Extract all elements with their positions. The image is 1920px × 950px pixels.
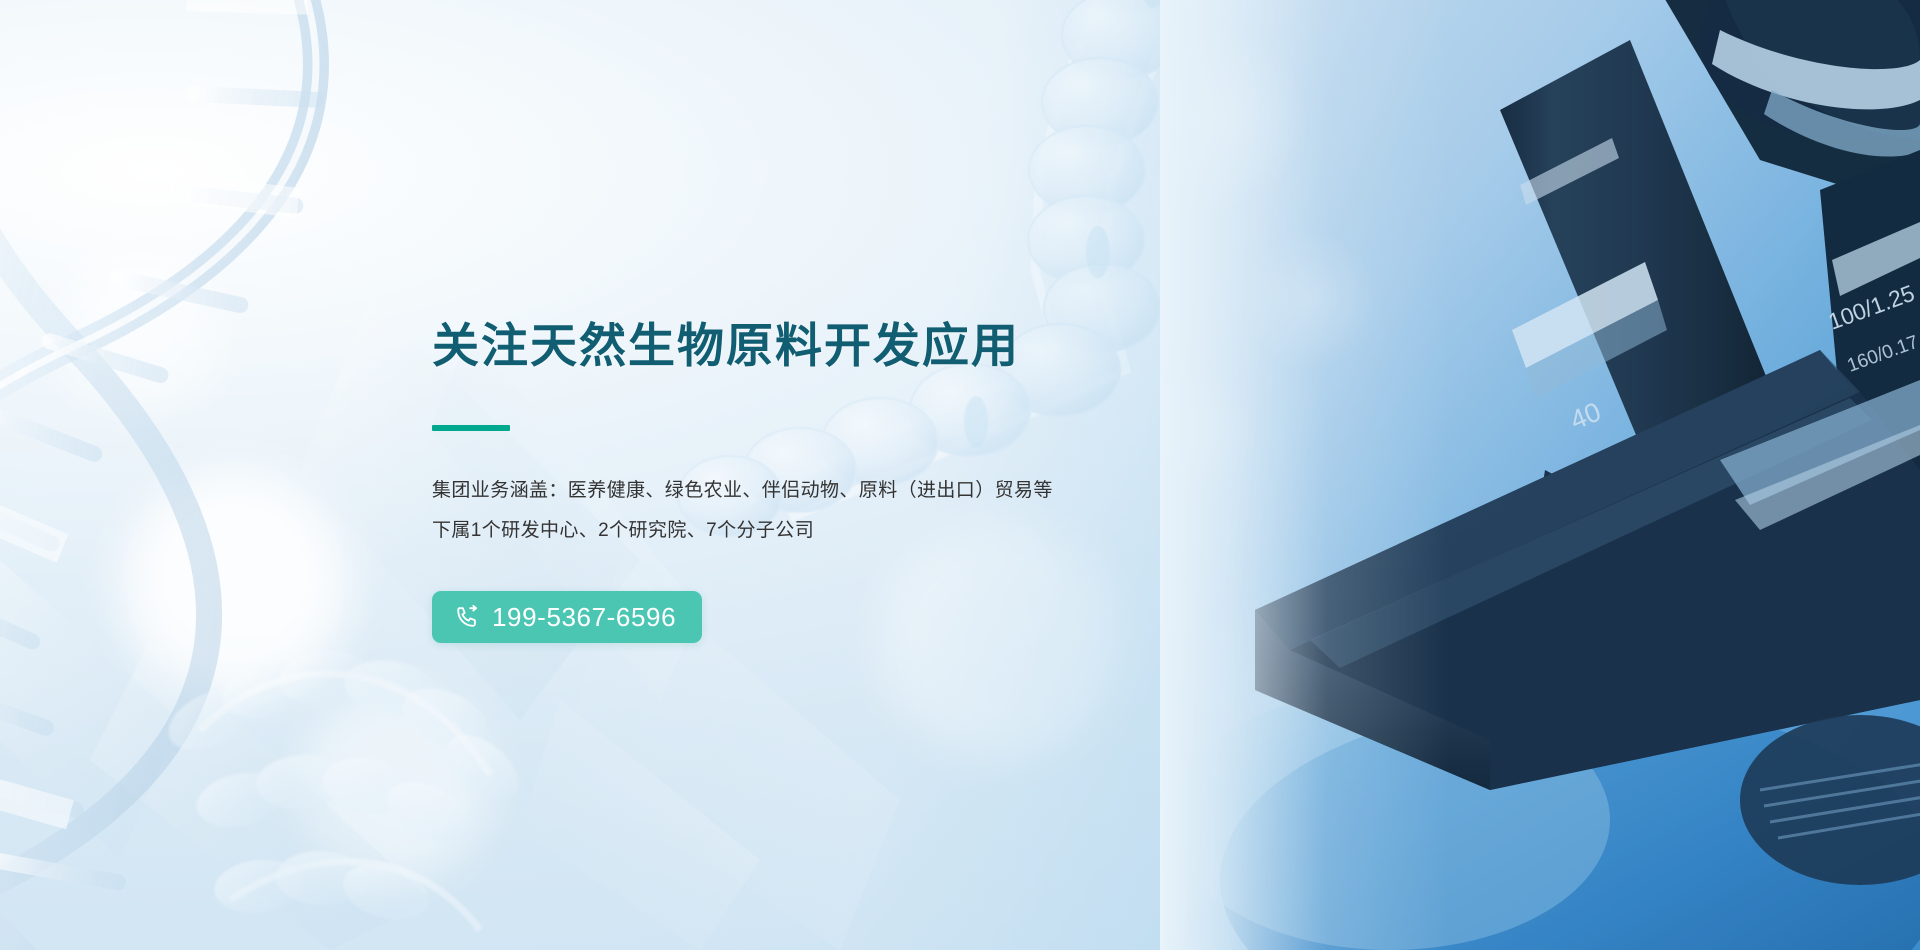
hero-content: 关注天然生物原料开发应用 集团业务涵盖：医养健康、绿色农业、伴侣动物、原料（进出… xyxy=(432,318,1332,643)
phone-number: 199-5367-6596 xyxy=(492,604,676,630)
description-line-2: 下属1个研发中心、2个研究院、7个分子公司 xyxy=(432,511,1332,551)
phone-cta-button[interactable]: 199-5367-6596 xyxy=(432,591,702,643)
hero-banner: 40 100/1.25 160/0.17 100 xyxy=(0,0,1920,950)
description-line-1: 集团业务涵盖：医养健康、绿色农业、伴侣动物、原料（进出口）贸易等 xyxy=(432,471,1332,511)
phone-forward-icon xyxy=(454,604,480,630)
title-divider xyxy=(432,425,510,431)
page-title: 关注天然生物原料开发应用 xyxy=(432,318,1332,373)
hero-description: 集团业务涵盖：医养健康、绿色农业、伴侣动物、原料（进出口）贸易等 下属1个研发中… xyxy=(432,471,1332,551)
